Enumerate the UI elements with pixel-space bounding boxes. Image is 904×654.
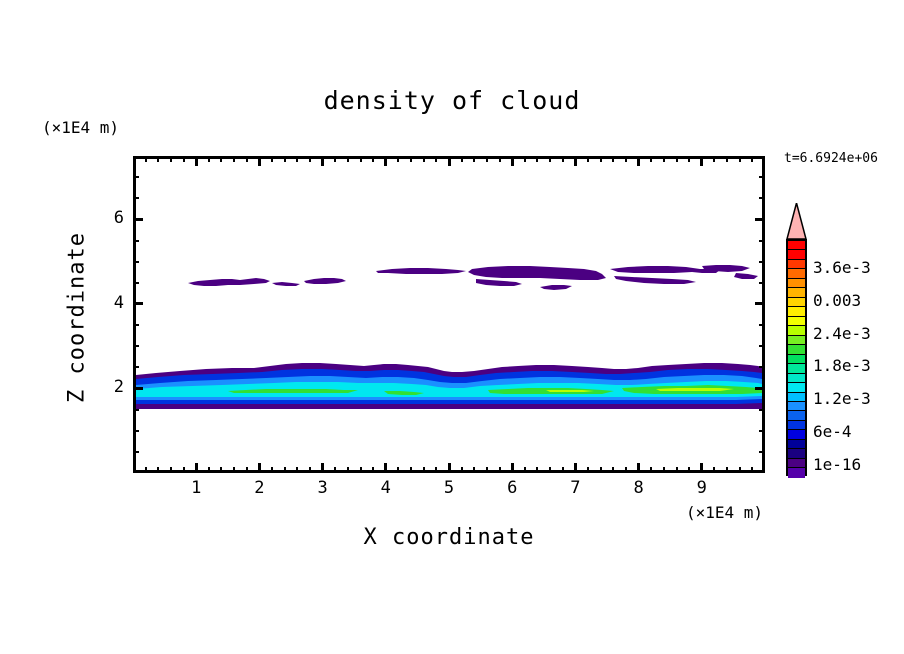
y-tick-major-right (755, 302, 765, 305)
colorbar-band (788, 393, 805, 402)
timestamp-annotation: t=6.6924e+06 (784, 151, 878, 166)
colorbar-band (788, 250, 805, 259)
y-tick-minor (133, 282, 139, 284)
x-tick-minor-top (562, 156, 564, 162)
contour-canvas (136, 159, 762, 470)
y-tick-minor-right (759, 197, 765, 199)
x-tick-minor (676, 467, 678, 473)
x-tick-minor-top (473, 156, 475, 162)
colorbar-band (788, 269, 805, 278)
y-tick-label: 6 (84, 208, 124, 228)
y-tick-major (133, 387, 143, 390)
x-tick-minor-top (360, 156, 362, 162)
x-tick-minor (612, 467, 614, 473)
x-tick-major (448, 463, 451, 473)
x-tick-minor-top (208, 156, 210, 162)
y-tick-minor (133, 366, 139, 368)
x-tick-minor (208, 467, 210, 473)
x-tick-minor (410, 467, 412, 473)
x-tick-minor-top (751, 156, 753, 162)
x-tick-minor-top (663, 156, 665, 162)
y-tick-minor-right (759, 451, 765, 453)
y-tick-major-right (755, 387, 765, 390)
x-tick-minor (499, 467, 501, 473)
x-tick-minor-top (650, 156, 652, 162)
x-tick-major (637, 463, 640, 473)
x-tick-major (574, 463, 577, 473)
y-tick-label: 2 (84, 377, 124, 397)
x-tick-label: 6 (492, 478, 532, 498)
y-tick-minor (133, 197, 139, 199)
x-tick-major-top (637, 156, 640, 166)
y-tick-minor-right (759, 345, 765, 347)
x-tick-minor-top (524, 156, 526, 162)
colorbar-band (788, 430, 805, 439)
x-tick-minor-top (334, 156, 336, 162)
x-tick-label: 2 (239, 478, 279, 498)
y-tick-label: 4 (84, 293, 124, 313)
x-tick-minor (334, 467, 336, 473)
colorbar-band (788, 440, 805, 449)
colorbar-band (788, 326, 805, 335)
x-tick-minor-top (536, 156, 538, 162)
x-tick-minor-top (612, 156, 614, 162)
x-tick-minor-top (233, 156, 235, 162)
colorbar-tick-label: 2.4e-3 (813, 324, 871, 343)
upper-cloud-layer (188, 265, 758, 290)
y-tick-minor-right (759, 324, 765, 326)
x-tick-minor (688, 467, 690, 473)
y-tick-minor (133, 324, 139, 326)
x-tick-major (195, 463, 198, 473)
x-tick-minor-top (587, 156, 589, 162)
y-tick-minor-right (759, 282, 765, 284)
x-axis-title: X coordinate (133, 525, 765, 550)
x-tick-minor (461, 467, 463, 473)
colorbar-band (788, 288, 805, 297)
x-tick-major (258, 463, 261, 473)
x-tick-minor (587, 467, 589, 473)
x-tick-minor-top (284, 156, 286, 162)
x-tick-minor (600, 467, 602, 473)
colorbar-band (788, 402, 805, 411)
colorbar-band (788, 260, 805, 269)
x-tick-minor-top (145, 156, 147, 162)
x-tick-minor-top (309, 156, 311, 162)
x-tick-major-top (700, 156, 703, 166)
x-tick-minor-top (170, 156, 172, 162)
colorbar-band (788, 345, 805, 354)
x-tick-minor (536, 467, 538, 473)
x-tick-minor (233, 467, 235, 473)
x-tick-minor (296, 467, 298, 473)
x-tick-minor-top (739, 156, 741, 162)
colorbar-band (788, 364, 805, 373)
x-tick-minor (271, 467, 273, 473)
x-tick-major-top (195, 156, 198, 166)
y-tick-minor-right (759, 261, 765, 263)
lower-layer-base-edge (136, 405, 762, 409)
x-tick-minor (524, 467, 526, 473)
x-tick-minor (713, 467, 715, 473)
x-tick-minor-top (271, 156, 273, 162)
y-tick-minor (133, 240, 139, 242)
y-tick-minor (133, 430, 139, 432)
x-tick-minor-top (157, 156, 159, 162)
x-tick-minor-top (499, 156, 501, 162)
x-tick-major (384, 463, 387, 473)
x-tick-minor-top (713, 156, 715, 162)
colorbar-band (788, 298, 805, 307)
x-tick-label: 1 (176, 478, 216, 498)
y-tick-major (133, 218, 143, 221)
colorbar-band (788, 411, 805, 420)
x-tick-minor-top (486, 156, 488, 162)
x-tick-major-top (574, 156, 577, 166)
colorbar-bands (786, 239, 807, 476)
x-tick-major-top (384, 156, 387, 166)
y-tick-minor-right (759, 366, 765, 368)
x-tick-minor-top (220, 156, 222, 162)
y-tick-minor-right (759, 240, 765, 242)
x-tick-minor-top (296, 156, 298, 162)
x-tick-minor-top (372, 156, 374, 162)
x-tick-minor (549, 467, 551, 473)
x-tick-minor-top (347, 156, 349, 162)
y-tick-minor-right (759, 176, 765, 178)
colorbar-band (788, 241, 805, 250)
x-tick-minor (284, 467, 286, 473)
colorbar-band (788, 279, 805, 288)
x-tick-minor (360, 467, 362, 473)
x-tick-minor-top (435, 156, 437, 162)
x-tick-minor-top (461, 156, 463, 162)
y-tick-minor (133, 451, 139, 453)
y-tick-minor (133, 345, 139, 347)
x-tick-minor (157, 467, 159, 473)
x-tick-minor-top (549, 156, 551, 162)
y-tick-minor (133, 409, 139, 411)
x-tick-minor-top (676, 156, 678, 162)
x-tick-major (321, 463, 324, 473)
x-tick-label: 8 (619, 478, 659, 498)
colorbar-band (788, 374, 805, 383)
colorbar-band (788, 449, 805, 458)
colorbar-band (788, 336, 805, 345)
x-axis-unit-label: (×1E4 m) (686, 503, 763, 522)
x-tick-minor-top (726, 156, 728, 162)
x-tick-minor (739, 467, 741, 473)
x-tick-major-top (321, 156, 324, 166)
x-tick-minor (309, 467, 311, 473)
colorbar-tick-label: 6e-4 (813, 422, 852, 441)
x-tick-minor (183, 467, 185, 473)
x-tick-minor-top (410, 156, 412, 162)
colorbar-tick-label: 0.003 (813, 291, 861, 310)
y-tick-minor (133, 176, 139, 178)
x-tick-minor (751, 467, 753, 473)
colorbar-arrow-cap (786, 203, 807, 239)
x-tick-minor (397, 467, 399, 473)
x-tick-minor (246, 467, 248, 473)
y-tick-major-right (755, 218, 765, 221)
contour-fill-svg (136, 159, 762, 470)
x-tick-major (511, 463, 514, 473)
x-tick-minor (486, 467, 488, 473)
y-axis-unit-label: (×1E4 m) (42, 118, 119, 137)
x-tick-minor-top (397, 156, 399, 162)
y-tick-major (133, 302, 143, 305)
colorbar (786, 203, 807, 476)
colorbar-band (788, 421, 805, 430)
x-tick-minor (435, 467, 437, 473)
colorbar-band (788, 383, 805, 392)
colorbar-band (788, 355, 805, 364)
x-tick-major-top (448, 156, 451, 166)
x-tick-minor (145, 467, 147, 473)
x-tick-minor (663, 467, 665, 473)
x-tick-label: 7 (555, 478, 595, 498)
y-tick-minor (133, 261, 139, 263)
x-tick-minor-top (246, 156, 248, 162)
x-tick-minor (170, 467, 172, 473)
x-tick-major-top (511, 156, 514, 166)
x-tick-minor-top (183, 156, 185, 162)
x-tick-minor (220, 467, 222, 473)
x-tick-minor-top (688, 156, 690, 162)
x-tick-minor (347, 467, 349, 473)
colorbar-band (788, 307, 805, 316)
x-tick-label: 9 (682, 478, 722, 498)
x-tick-major (700, 463, 703, 473)
colorbar-tick-label: 1e-16 (813, 455, 861, 474)
plot-area (133, 156, 765, 473)
x-tick-minor-top (625, 156, 627, 162)
x-tick-minor (423, 467, 425, 473)
colorbar-tick-label: 3.6e-3 (813, 258, 871, 277)
y-tick-minor-right (759, 430, 765, 432)
x-tick-label: 5 (429, 478, 469, 498)
contour-plot-figure: density of cloud (×1E4 m) t=6.6924e+06 (… (0, 0, 904, 654)
x-tick-label: 3 (303, 478, 343, 498)
x-tick-minor (372, 467, 374, 473)
x-tick-minor-top (423, 156, 425, 162)
x-tick-minor (473, 467, 475, 473)
x-tick-minor (625, 467, 627, 473)
colorbar-band (788, 468, 805, 477)
colorbar-band (788, 317, 805, 326)
colorbar-tick-label: 1.2e-3 (813, 389, 871, 408)
x-tick-minor (726, 467, 728, 473)
page-title: density of cloud (0, 86, 904, 115)
x-tick-minor (650, 467, 652, 473)
y-tick-minor-right (759, 409, 765, 411)
x-tick-minor-top (600, 156, 602, 162)
x-tick-major-top (258, 156, 261, 166)
colorbar-band (788, 459, 805, 468)
x-tick-label: 4 (366, 478, 406, 498)
x-tick-minor (562, 467, 564, 473)
colorbar-tick-label: 1.8e-3 (813, 356, 871, 375)
